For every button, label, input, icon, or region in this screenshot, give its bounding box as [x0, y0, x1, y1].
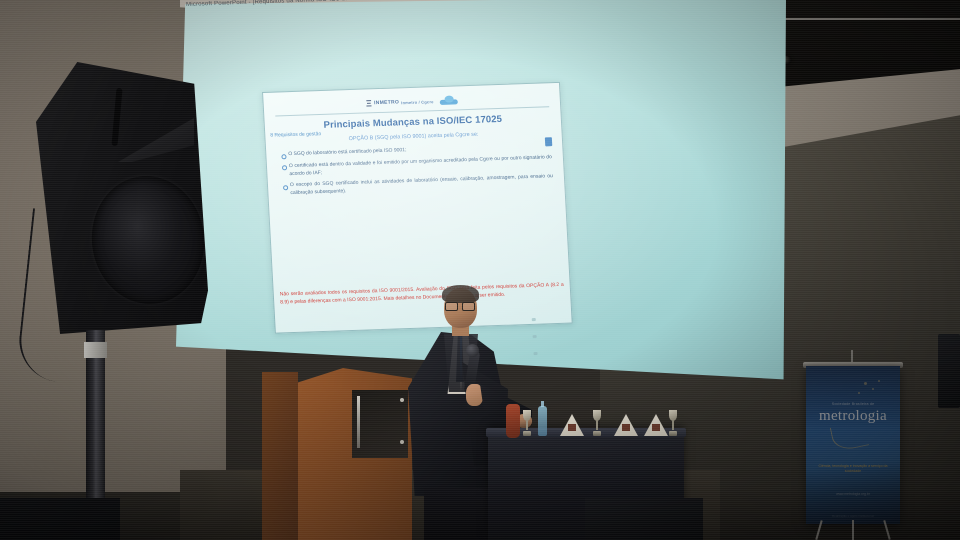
presenter-hand-right — [466, 384, 483, 406]
scroll-mark — [532, 318, 536, 321]
inmetro-mark-icon: Ξ — [366, 99, 373, 108]
trophy — [592, 410, 602, 436]
banner-shadow-overlay — [806, 366, 900, 524]
wall-monitor — [938, 334, 960, 408]
glasses-lens-right — [462, 302, 475, 311]
presenter-hair — [442, 285, 479, 303]
photo-scene: Microsoft PowerPoint - [Requisitos da No… — [0, 0, 960, 540]
lectern-side-panel — [262, 372, 298, 540]
glasses-icon — [445, 302, 475, 309]
lectern-metal-bar — [357, 396, 360, 448]
slide-bullet-list: O SGQ do laboratório está certificado pe… — [281, 142, 553, 198]
trophy-stem — [672, 420, 674, 430]
trophy-stem — [526, 420, 528, 430]
red-decanter — [506, 404, 520, 438]
trophy-base — [669, 431, 677, 436]
trophy-base — [523, 431, 531, 436]
plaque-emblem-icon — [652, 424, 660, 431]
trophy-stem — [596, 420, 598, 430]
trophy-base — [593, 431, 601, 436]
glasses-lens-left — [445, 302, 458, 311]
water-bottle — [538, 406, 547, 436]
banner-stand-legs — [818, 520, 888, 540]
inmetro-logo-text: INMETRO — [374, 99, 399, 106]
microphone-head-icon — [466, 344, 479, 357]
trophy — [668, 410, 678, 436]
foreground-dark-object-left — [0, 498, 120, 540]
scroll-mark — [533, 352, 537, 355]
inmetro-logo-subtext: Inmetro / Cgcre — [401, 99, 434, 105]
scroll-mark — [533, 335, 537, 338]
speaker-stand-clamp — [84, 342, 107, 358]
slide-title: Principais Mudanças na ISO/IEC 17025 — [274, 112, 552, 132]
award-plaque — [560, 414, 584, 436]
trophy — [522, 410, 532, 436]
plaque-emblem-icon — [568, 424, 576, 431]
slide-logo-row: Ξ INMETRO Inmetro / Cgcre — [272, 91, 551, 112]
inmetro-logo: Ξ INMETRO Inmetro / Cgcre — [366, 97, 434, 108]
plaque-emblem-icon — [622, 424, 630, 431]
cloud-logo-icon — [439, 96, 457, 105]
foreground-dark-object-right — [585, 498, 703, 540]
banner-leg — [852, 520, 854, 540]
